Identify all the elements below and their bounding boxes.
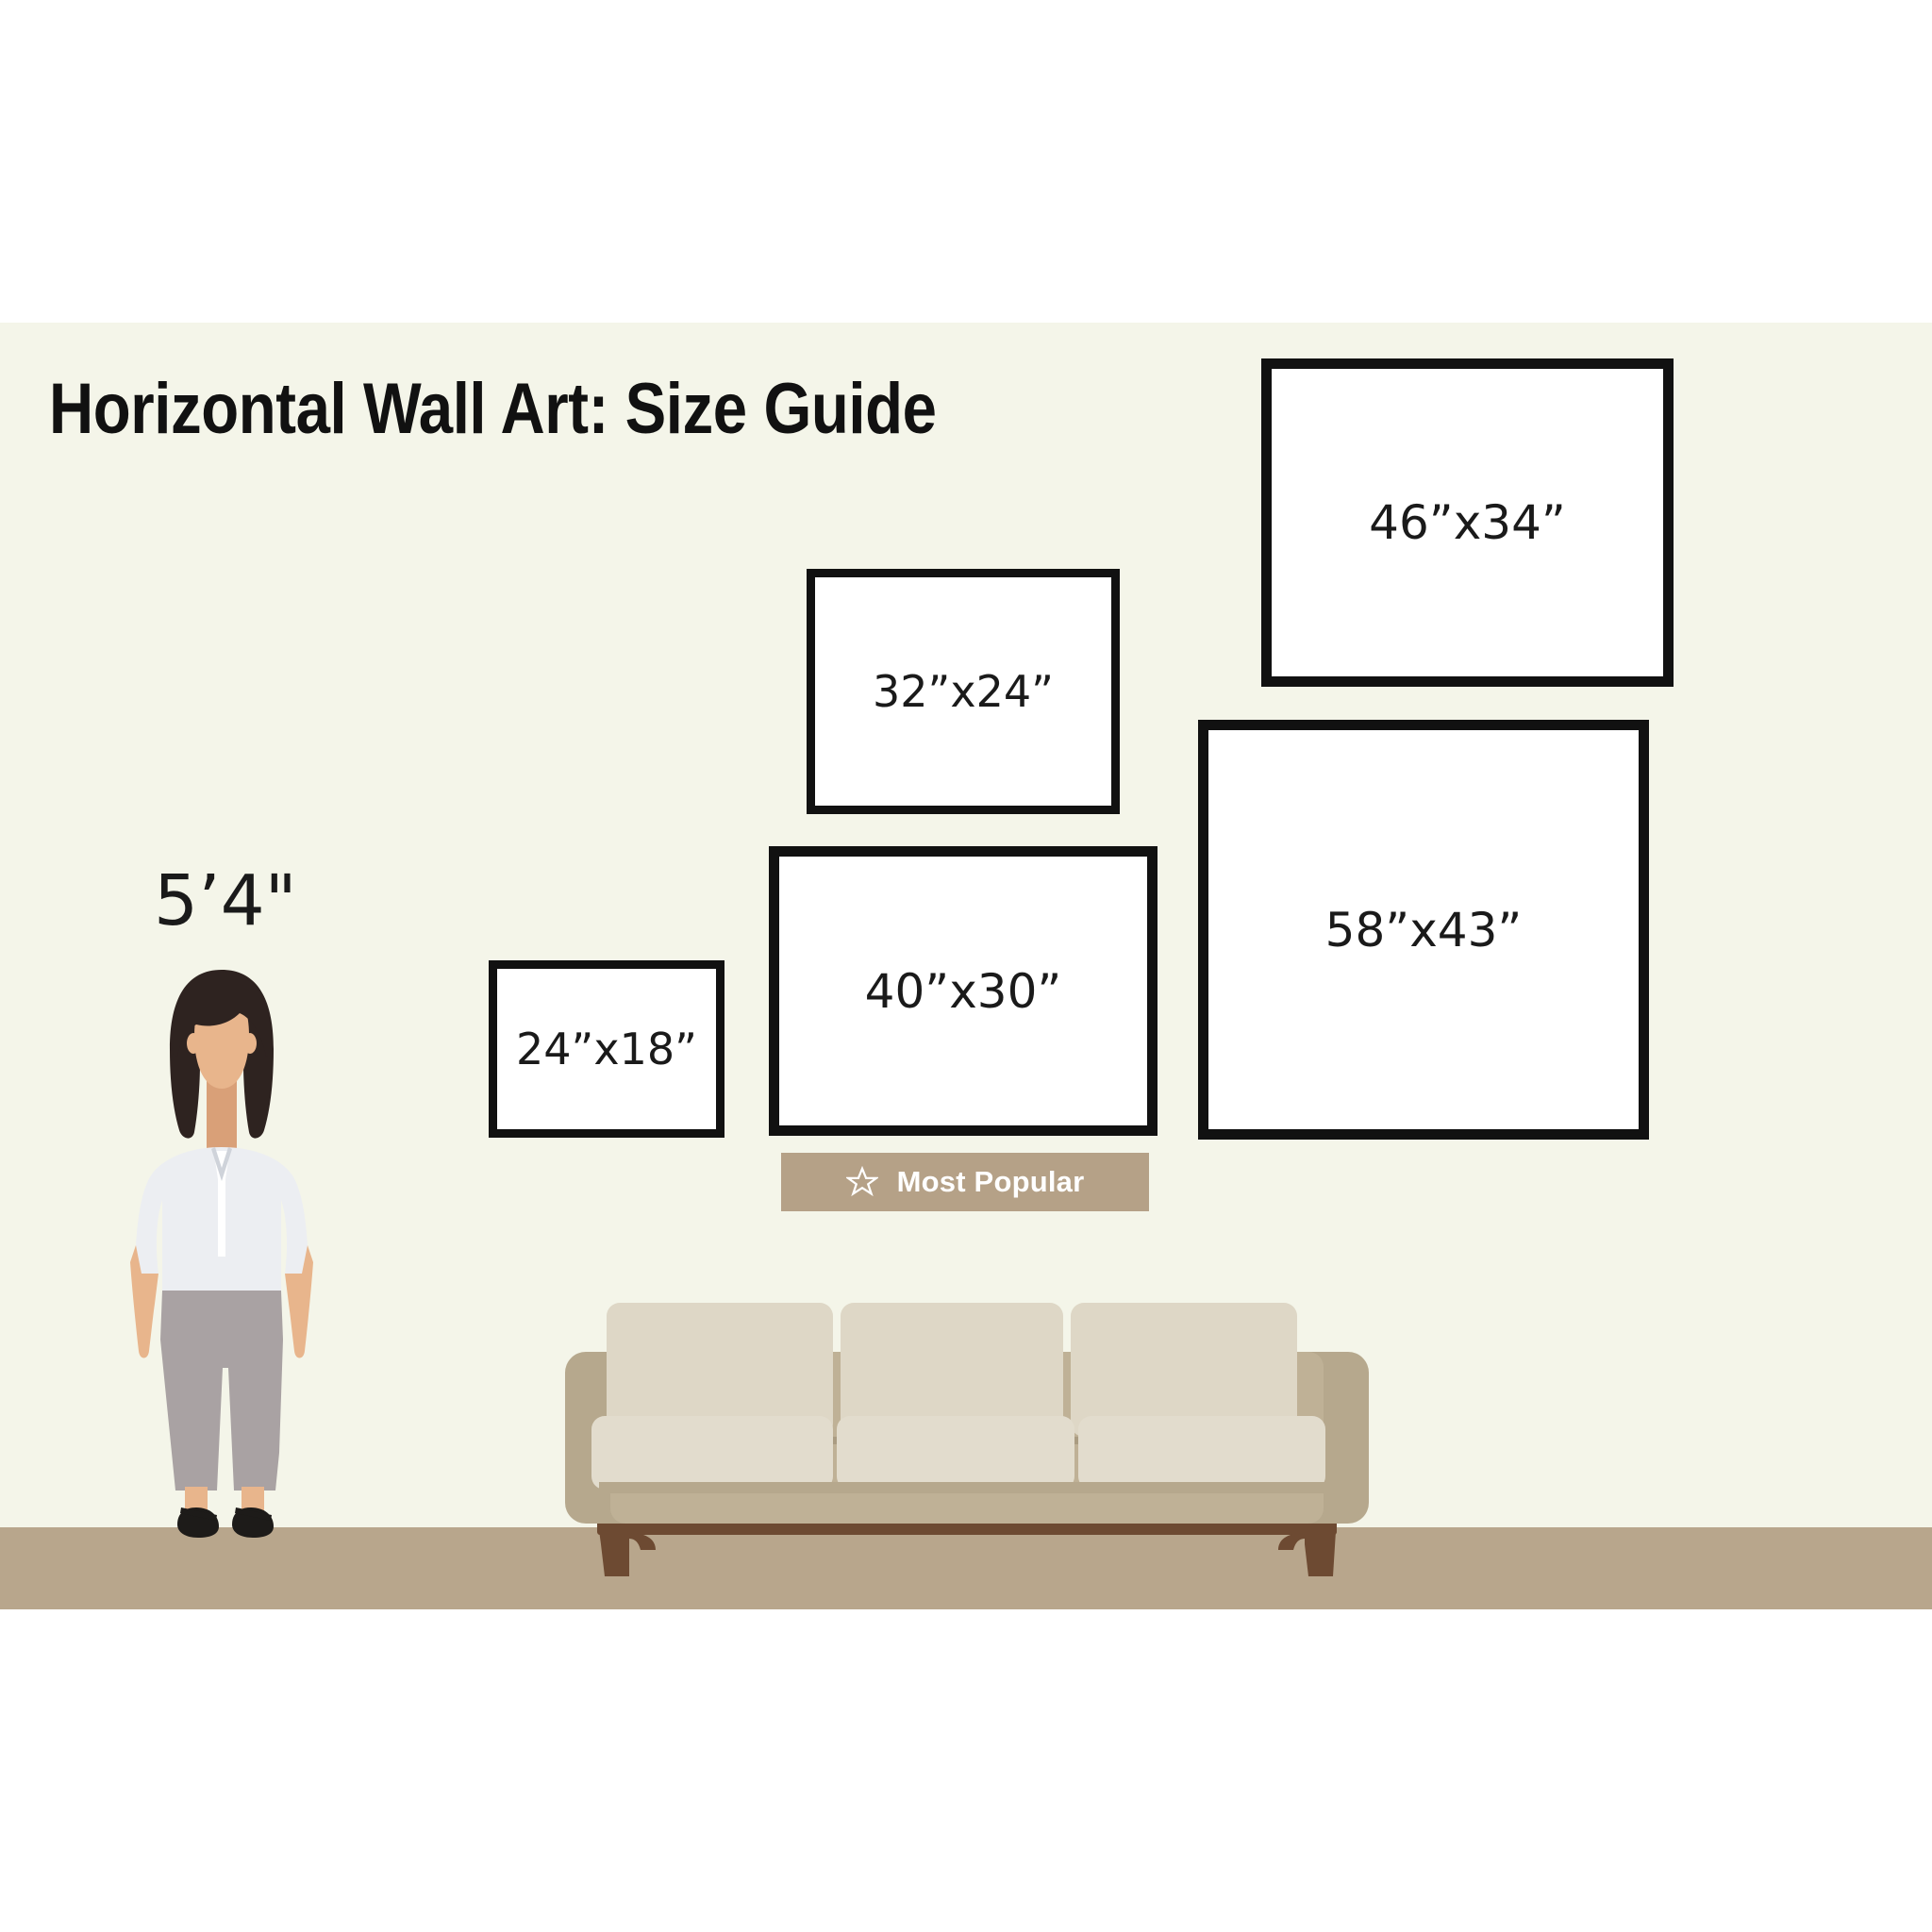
frame-40x30[interactable]: 40”x30”: [769, 846, 1158, 1136]
size-guide-infographic: Horizontal Wall Art: Size Guide 5’4": [0, 0, 1932, 1932]
frame-label-24x18: 24”x18”: [516, 1024, 697, 1074]
page-title: Horizontal Wall Art: Size Guide: [49, 368, 936, 450]
frame-46x34[interactable]: 46”x34”: [1261, 358, 1674, 687]
frame-label-40x30: 40”x30”: [865, 964, 1062, 1019]
frame-label-58x43: 58”x43”: [1325, 903, 1523, 958]
frame-58x43[interactable]: 58”x43”: [1198, 720, 1649, 1140]
most-popular-label: Most Popular: [897, 1165, 1085, 1199]
frame-label-32x24: 32”x24”: [873, 666, 1054, 717]
three-seat-sofa: [561, 1297, 1373, 1580]
frame-label-46x34: 46”x34”: [1369, 495, 1566, 550]
frame-32x24[interactable]: 32”x24”: [807, 569, 1120, 814]
most-popular-badge[interactable]: Most Popular: [781, 1153, 1149, 1211]
star-outline-icon: [846, 1166, 878, 1198]
woman-standing-figure: [113, 962, 330, 1547]
frame-24x18[interactable]: 24”x18”: [489, 960, 724, 1138]
height-reference-label: 5’4": [154, 860, 297, 941]
